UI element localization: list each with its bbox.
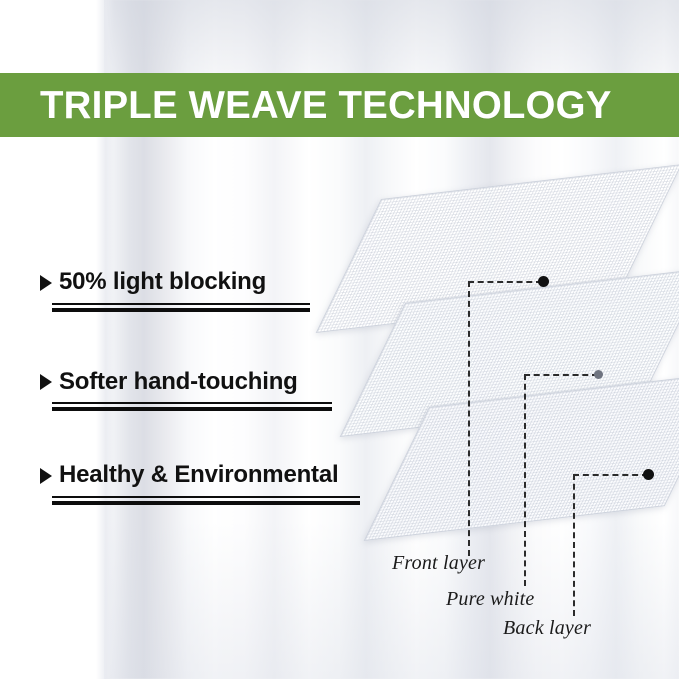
feature-list: 50% light blocking Softer hand-touching …: [0, 268, 420, 505]
feature-underline: [52, 402, 332, 411]
leader-vertical: [524, 374, 526, 586]
leader-horizontal: [573, 474, 648, 476]
underline-thin: [52, 496, 360, 498]
leader-horizontal: [524, 374, 598, 376]
triangle-right-icon: [40, 275, 52, 291]
underline-thick: [52, 308, 310, 312]
underline-thin: [52, 402, 332, 404]
feature-underline: [52, 303, 310, 312]
triangle-right-icon: [40, 468, 52, 484]
product-infographic: TRIPLE WEAVE TECHNOLOGY 50% li: [0, 0, 679, 679]
headline-banner: TRIPLE WEAVE TECHNOLOGY: [0, 73, 679, 137]
feature-row: 50% light blocking: [0, 268, 420, 296]
leader-horizontal: [468, 281, 542, 283]
caption-front-layer: Front layer: [392, 552, 485, 575]
feature-label: Softer hand-touching: [59, 368, 298, 396]
callout-dot-front: [538, 276, 549, 287]
feature-item: Healthy & Environmental: [0, 461, 420, 505]
banner-title: TRIPLE WEAVE TECHNOLOGY: [40, 86, 612, 125]
underline-thin: [52, 303, 310, 305]
underline-thick: [52, 501, 360, 505]
feature-label: Healthy & Environmental: [59, 461, 338, 489]
callout-dot-back: [643, 469, 654, 480]
underline-thick: [52, 407, 332, 411]
feature-underline: [52, 496, 360, 505]
callout-dot-pure-white: [594, 370, 603, 379]
leader-vertical: [573, 474, 575, 616]
feature-row: Healthy & Environmental: [0, 461, 420, 489]
triangle-right-icon: [40, 374, 52, 390]
feature-item: 50% light blocking: [0, 268, 420, 312]
caption-back-layer: Back layer: [503, 617, 591, 640]
feature-label: 50% light blocking: [59, 268, 266, 296]
feature-item: Softer hand-touching: [0, 368, 420, 412]
feature-row: Softer hand-touching: [0, 368, 420, 396]
caption-pure-white: Pure white: [446, 588, 534, 611]
leader-vertical: [468, 281, 470, 556]
